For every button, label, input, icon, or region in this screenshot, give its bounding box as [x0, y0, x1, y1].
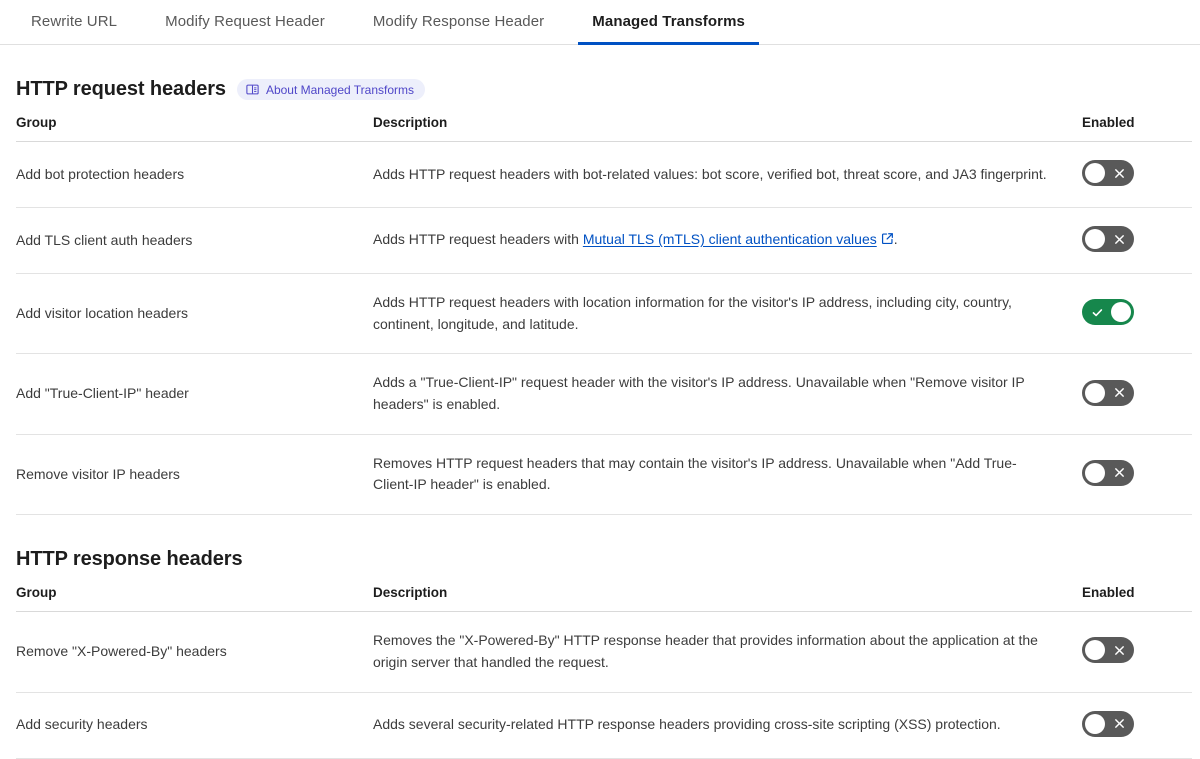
toggle-knob [1085, 714, 1105, 734]
enabled-toggle[interactable] [1082, 299, 1134, 325]
row-enabled-cell [1082, 354, 1192, 434]
enabled-toggle[interactable] [1082, 160, 1134, 186]
toggle-knob [1085, 463, 1105, 483]
column-header-description: Description [373, 115, 1082, 142]
about-badge-label: About Managed Transforms [266, 84, 414, 96]
close-icon [1106, 711, 1132, 737]
close-icon [1106, 460, 1132, 486]
description-prefix: Adds HTTP request headers with [373, 231, 583, 247]
table-row: Add "True-Client-IP" header Adds a "True… [16, 354, 1192, 434]
row-description: Adds HTTP request headers with location … [373, 274, 1082, 354]
request-section-header: HTTP request headers About Managed Trans… [0, 78, 1200, 101]
external-link-icon[interactable] [881, 230, 894, 252]
row-enabled-cell [1082, 142, 1192, 208]
column-header-group: Group [16, 585, 373, 612]
row-group-name: Add bot protection headers [16, 142, 373, 208]
http-response-headers-section: HTTP response headers Group Description … [0, 548, 1200, 758]
page-title: HTTP request headers [16, 78, 226, 101]
row-enabled-cell [1082, 692, 1192, 758]
toggle-knob [1085, 383, 1105, 403]
enabled-toggle[interactable] [1082, 380, 1134, 406]
close-icon [1106, 637, 1132, 663]
response-headers-table: Group Description Enabled Remove "X-Powe… [16, 585, 1192, 758]
table-row: Add visitor location headers Adds HTTP r… [16, 274, 1192, 354]
row-description: Adds several security-related HTTP respo… [373, 692, 1082, 758]
tab-managed-transforms[interactable]: Managed Transforms [592, 0, 745, 44]
enabled-toggle[interactable] [1082, 226, 1134, 252]
toggle-knob [1085, 640, 1105, 660]
enabled-toggle[interactable] [1082, 637, 1134, 663]
column-header-enabled: Enabled [1082, 585, 1192, 612]
table-row: Remove visitor IP headers Removes HTTP r… [16, 434, 1192, 514]
row-description: Adds a "True-Client-IP" request header w… [373, 354, 1082, 434]
request-headers-table: Group Description Enabled Add bot protec… [16, 115, 1192, 515]
about-managed-transforms-badge[interactable]: About Managed Transforms [237, 79, 425, 100]
description-suffix: . [894, 231, 898, 247]
row-group-name: Add "True-Client-IP" header [16, 354, 373, 434]
book-icon [246, 83, 259, 96]
toggle-knob [1085, 229, 1105, 249]
tab-bar: Rewrite URL Modify Request Header Modify… [0, 0, 1200, 45]
row-group-name: Remove visitor IP headers [16, 434, 373, 514]
row-description: Adds HTTP request headers with bot-relat… [373, 142, 1082, 208]
row-description: Removes HTTP request headers that may co… [373, 434, 1082, 514]
check-icon [1084, 299, 1110, 325]
column-header-description: Description [373, 585, 1082, 612]
column-header-group: Group [16, 115, 373, 142]
row-description: Removes the "X-Powered-By" HTTP response… [373, 612, 1082, 692]
enabled-toggle[interactable] [1082, 460, 1134, 486]
tab-modify-request-header[interactable]: Modify Request Header [165, 0, 325, 44]
row-enabled-cell [1082, 612, 1192, 692]
http-request-headers-section: HTTP request headers About Managed Trans… [0, 78, 1200, 515]
row-enabled-cell [1082, 208, 1192, 274]
close-icon [1106, 160, 1132, 186]
table-row: Add security headers Adds several securi… [16, 692, 1192, 758]
enabled-toggle[interactable] [1082, 711, 1134, 737]
column-header-enabled: Enabled [1082, 115, 1192, 142]
row-description: Adds HTTP request headers with Mutual TL… [373, 208, 1082, 274]
close-icon [1106, 226, 1132, 252]
row-group-name: Add TLS client auth headers [16, 208, 373, 274]
response-section-header: HTTP response headers [0, 548, 1200, 571]
table-header-row: Group Description Enabled [16, 115, 1192, 142]
row-group-name: Remove "X-Powered-By" headers [16, 612, 373, 692]
table-row: Remove "X-Powered-By" headers Removes th… [16, 612, 1192, 692]
row-group-name: Add visitor location headers [16, 274, 373, 354]
table-row: Add bot protection headers Adds HTTP req… [16, 142, 1192, 208]
table-header-row: Group Description Enabled [16, 585, 1192, 612]
row-group-name: Add security headers [16, 692, 373, 758]
close-icon [1106, 380, 1132, 406]
row-enabled-cell [1082, 434, 1192, 514]
toggle-knob [1111, 302, 1131, 322]
mtls-documentation-link[interactable]: Mutual TLS (mTLS) client authentication … [583, 231, 877, 247]
tab-rewrite-url[interactable]: Rewrite URL [31, 0, 117, 44]
row-enabled-cell [1082, 274, 1192, 354]
response-section-title: HTTP response headers [16, 548, 243, 571]
toggle-knob [1085, 163, 1105, 183]
tab-modify-response-header[interactable]: Modify Response Header [373, 0, 544, 44]
table-row: Add TLS client auth headers Adds HTTP re… [16, 208, 1192, 274]
